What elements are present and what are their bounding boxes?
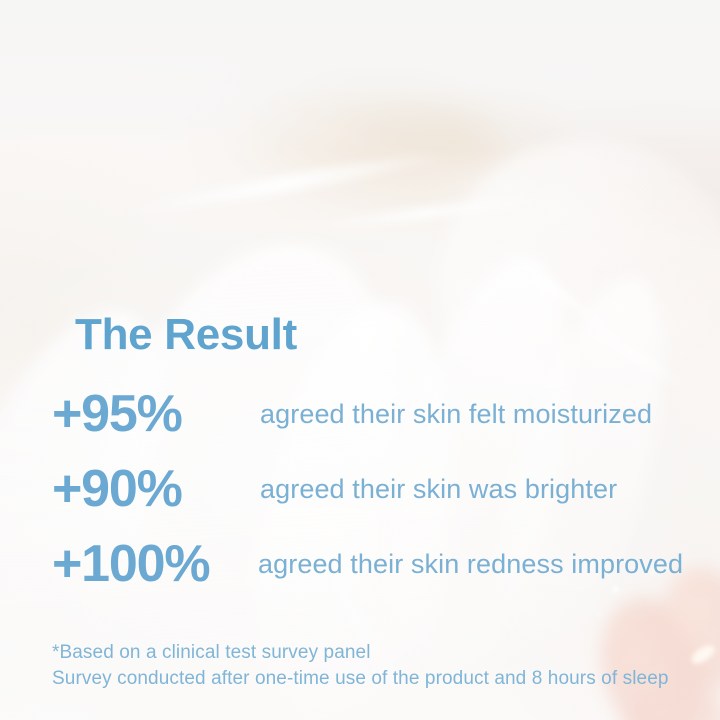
statistic-label: agreed their skin was brighter — [260, 469, 617, 509]
statistics-list: +95% agreed their skin felt moisturized … — [52, 386, 712, 611]
statistic-value: +100% — [52, 536, 252, 592]
statistic-value: +90% — [52, 461, 252, 517]
promo-graphic: The Result +95% agreed their skin felt m… — [0, 0, 720, 720]
statistic-label: agreed their skin redness improved — [258, 544, 683, 584]
statistic-label: agreed their skin felt moisturized — [260, 394, 652, 434]
footnote-line-1: *Based on a clinical test survey panel — [52, 640, 669, 666]
statistic-row: +90% agreed their skin was brighter — [52, 461, 712, 536]
statistic-row: +95% agreed their skin felt moisturized — [52, 386, 712, 461]
footnote-line-2: Survey conducted after one-time use of t… — [52, 666, 669, 692]
statistic-row: +100% agreed their skin redness improved — [52, 536, 712, 611]
footnote: *Based on a clinical test survey panel S… — [52, 640, 669, 692]
text-overlay: The Result +95% agreed their skin felt m… — [0, 0, 720, 720]
page-title: The Result — [75, 313, 297, 357]
statistic-value: +95% — [52, 386, 252, 442]
